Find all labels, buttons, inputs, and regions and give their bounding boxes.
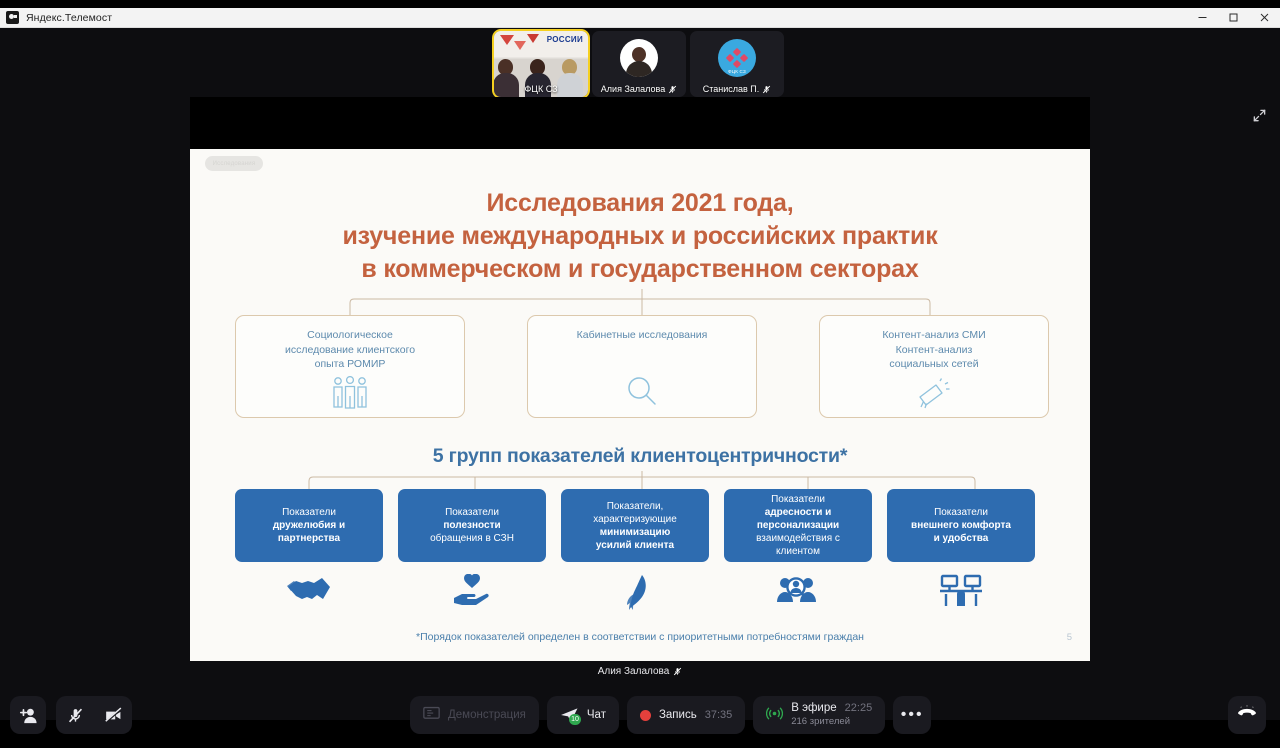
indicator-line: обращения в СЗН [430, 532, 514, 545]
live-label: В эфире [791, 702, 836, 715]
handshake-icon [235, 574, 383, 612]
slide-title: Исследования 2021 года, изучение междуна… [190, 187, 1090, 286]
maximize-icon[interactable] [1218, 8, 1249, 28]
mic-off-icon [762, 85, 771, 94]
expand-icon[interactable] [1248, 104, 1270, 126]
active-speaker-label: Алия Залалова [190, 660, 1090, 682]
indicator-line: усилий клиента [596, 540, 674, 551]
telemost-app: РОССИИ ФЦК СЗ Алия Залалова ФЦК [0, 28, 1280, 720]
participant-name: ФЦК СЗ [494, 84, 588, 94]
screen-share-icon [423, 706, 440, 724]
live-info: В эфире 22:25 216 зрителей [791, 702, 872, 728]
indicator-box: Показателиадресности иперсонализациивзаи… [724, 489, 872, 562]
indicator-line: персонализации [757, 520, 839, 531]
indicator-line: Показатели [273, 506, 345, 519]
banner-triangle-icon [527, 34, 539, 43]
indicator-line: Показатели [756, 493, 840, 506]
banner-triangle-icon [514, 41, 526, 50]
active-speaker-name: Алия Залалова [598, 666, 670, 677]
research-methods-row: Социологическое исследование клиентского… [235, 315, 1050, 418]
share-screen-button[interactable]: Демонстрация [410, 696, 539, 734]
method-card-text: Социологическое исследование клиентского… [236, 328, 464, 372]
workstations-icon [887, 574, 1035, 612]
indicator-line: внешнего комфорта [911, 520, 1011, 531]
window-controls [1187, 8, 1280, 28]
camera-toggle-button[interactable] [94, 696, 132, 734]
shared-screen-stage[interactable]: Исследования Исследования 2021 года, изу… [190, 97, 1090, 660]
call-toolbar: Демонстрация 10 Чат Запись 37:35 [0, 682, 1280, 748]
slide-title-line-1: Исследования 2021 года, [190, 187, 1090, 220]
indicator-icons-row [235, 574, 1050, 612]
person-search-icon [724, 574, 872, 612]
more-options-button[interactable]: ••• [893, 696, 931, 734]
method-card: Кабинетные исследования [527, 315, 757, 418]
slide-title-line-2: изучение международных и российских прак… [190, 220, 1090, 253]
mic-toggle-button[interactable] [56, 696, 94, 734]
feather-icon [561, 574, 709, 612]
close-icon[interactable] [1249, 8, 1280, 28]
window-titlebar: Яндекс.Телемост [0, 8, 1280, 28]
indicator-line: клиентом [756, 545, 840, 558]
indicator-boxes-row: Показателидружелюбия ипартнерства Показа… [235, 489, 1050, 562]
more-dots-icon: ••• [901, 706, 924, 724]
banner-text: РОССИИ [547, 35, 583, 44]
main-controls-group: Демонстрация 10 Чат Запись 37:35 [410, 696, 931, 734]
method-card-text: Кабинетные исследования [528, 328, 756, 343]
record-timer: 37:35 [705, 709, 733, 721]
participant-tile-aliya[interactable]: Алия Залалова [592, 31, 686, 97]
avatar [620, 39, 658, 77]
participant-name-text: Алия Залалова [601, 84, 665, 94]
status-badge: Исследования [205, 156, 263, 171]
connector-lines-bottom [235, 471, 1050, 491]
presentation-slide: Исследования Исследования 2021 года, изу… [190, 149, 1090, 661]
megaphone-icon [914, 378, 954, 410]
slide-title-line-3: в коммерческом и государственном сектора… [190, 253, 1090, 286]
record-button[interactable]: Запись 37:35 [627, 696, 745, 734]
slide-footnote: *Порядок показателей определен в соответ… [190, 631, 1090, 643]
indicator-line: и удобства [934, 533, 989, 544]
indicator-line: полезности [443, 520, 500, 531]
indicator-line: Показатели [430, 506, 514, 519]
participant-strip: РОССИИ ФЦК СЗ Алия Залалова ФЦК [494, 31, 786, 97]
indicator-line: Показатели, [593, 500, 677, 513]
telemost-app-icon [6, 11, 19, 24]
magnifier-icon [624, 374, 660, 410]
indicator-line: партнерства [278, 533, 340, 544]
chat-label: Чат [587, 709, 606, 721]
slide-page-number: 5 [1067, 632, 1072, 643]
mic-off-icon [668, 85, 677, 94]
participant-name: Алия Залалова [592, 84, 686, 94]
mic-off-icon [673, 667, 682, 676]
share-screen-label: Демонстрация [448, 709, 526, 721]
method-card: Социологическое исследование клиентского… [235, 315, 465, 418]
viewers-count: 216 зрителей [791, 715, 872, 728]
people-group-icon [330, 376, 370, 410]
indicator-box: Показателивнешнего комфортаи удобства [887, 489, 1035, 562]
indicator-line: Показатели [911, 506, 1011, 519]
hangup-button[interactable] [1228, 696, 1266, 734]
indicator-box: Показатели,характеризующиеминимизациюуси… [561, 489, 709, 562]
participant-tile-fcksz[interactable]: РОССИИ ФЦК СЗ [494, 31, 588, 97]
indicator-line: дружелюбия и [273, 520, 345, 531]
av-controls-group [56, 696, 132, 734]
live-timer: 22:25 [845, 702, 873, 715]
indicator-box: Показателидружелюбия ипартнерства [235, 489, 383, 562]
record-dot-icon [640, 710, 651, 721]
banner-triangle-icon [500, 35, 514, 45]
participant-name-text: ФЦК СЗ [524, 84, 557, 94]
live-broadcast-button[interactable]: В эфире 22:25 216 зрителей [753, 696, 885, 734]
window-title: Яндекс.Телемост [26, 12, 112, 24]
indicator-line: взаимодействия с [756, 532, 840, 545]
chat-button[interactable]: 10 Чат [547, 696, 619, 734]
groups-heading: 5 групп показателей клиентоцентричности* [190, 445, 1090, 468]
method-card-text: Контент-анализ СМИ Контент-анализ социал… [820, 328, 1048, 372]
method-card: Контент-анализ СМИ Контент-анализ социал… [819, 315, 1049, 418]
participant-name: Станислав П. [690, 84, 784, 94]
hangup-icon [1237, 703, 1257, 728]
record-label: Запись [659, 709, 697, 721]
indicator-line: характеризующие [593, 513, 677, 526]
logo-text: ФЦК СЗ [718, 69, 756, 74]
minimize-icon[interactable] [1187, 8, 1218, 28]
indicator-line: адресности и [765, 507, 832, 518]
backdrop-banner: РОССИИ [494, 31, 588, 57]
participant-tile-stanislav[interactable]: ФЦК СЗ Станислав П. [690, 31, 784, 97]
participant-name-text: Станислав П. [703, 84, 760, 94]
company-logo-icon: ФЦК СЗ [718, 39, 756, 77]
add-person-icon[interactable] [19, 696, 38, 734]
hand-heart-icon [398, 574, 546, 612]
indicator-box: Показателиполезностиобращения в СЗН [398, 489, 546, 562]
chat-icon: 10 [560, 707, 579, 723]
broadcast-icon [766, 705, 783, 725]
indicator-line: минимизацию [600, 527, 671, 538]
add-participant-button[interactable] [10, 696, 46, 734]
